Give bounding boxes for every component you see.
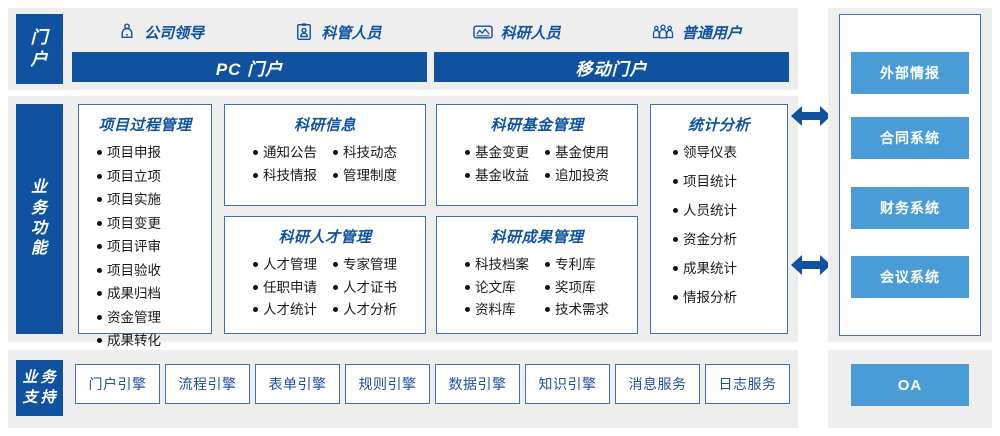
researcher-icon <box>472 22 494 42</box>
support-engine-label: 知识引擎 <box>539 374 597 394</box>
support-engine-form[interactable]: 表单引擎 <box>255 364 340 404</box>
business-support-label: 业 务 支 持 <box>16 360 63 416</box>
module-item[interactable]: 项目立项 <box>97 165 161 185</box>
module-item[interactable]: 论文库 <box>465 276 529 296</box>
module-item-list: 人才管理 专家管理 任职申请 人才证书 人才统计 人才分析 <box>225 253 425 318</box>
module-item[interactable]: 人才证书 <box>333 276 397 296</box>
module-item[interactable]: 成果统计 <box>673 257 737 277</box>
business-support-label-ch4: 持 <box>41 389 57 407</box>
support-engine-label: 表单引擎 <box>269 374 327 394</box>
pc-portal-label: PC 门户 <box>216 55 283 80</box>
research-admin-icon <box>294 22 314 42</box>
module-item[interactable]: 资金分析 <box>673 228 737 248</box>
support-engine-label: 数据引擎 <box>449 374 507 394</box>
module-item[interactable]: 专家管理 <box>333 253 397 273</box>
oa-system-label: OA <box>898 377 923 394</box>
portal-role-company-leader[interactable]: 公司领导 <box>117 22 204 43</box>
portal-role-researcher[interactable]: 科研人员 <box>472 22 561 43</box>
module-title: 科研成果管理 <box>437 226 637 247</box>
support-engine-label: 日志服务 <box>719 374 777 394</box>
portal-role-general-user[interactable]: 普通用户 <box>651 22 742 43</box>
oa-system-button[interactable]: OA <box>851 364 969 406</box>
business-function-label-ch1: 业 <box>31 178 48 198</box>
module-item-list: 基金变更 基金使用 基金收益 追加投资 <box>437 141 637 184</box>
support-engine-rule[interactable]: 规则引擎 <box>345 364 430 404</box>
external-system-meeting[interactable]: 会议系统 <box>851 256 969 298</box>
support-engine-label: 规则引擎 <box>359 374 417 394</box>
portal-role-label: 科管人员 <box>321 22 381 43</box>
support-engine-portal[interactable]: 门户引擎 <box>75 364 160 404</box>
company-leader-icon <box>117 22 137 42</box>
portal-role-label: 公司领导 <box>144 22 204 43</box>
module-fund-management[interactable]: 科研基金管理 基金变更 基金使用 基金收益 追加投资 <box>436 104 638 206</box>
module-title: 科研人才管理 <box>225 226 425 247</box>
module-item-list: 项目申报 项目立项 项目实施 项目变更 项目评审 项目验收 成果归档 资金管理 … <box>79 141 211 349</box>
module-item[interactable]: 基金变更 <box>465 141 529 161</box>
pc-portal-bar[interactable]: PC 门户 <box>72 52 427 82</box>
portal-role-label: 普通用户 <box>682 22 742 43</box>
module-item[interactable]: 基金使用 <box>545 141 609 161</box>
module-item[interactable]: 科技档案 <box>465 253 529 273</box>
support-engine-label: 流程引擎 <box>179 374 237 394</box>
module-title: 项目过程管理 <box>79 114 211 135</box>
external-system-contract[interactable]: 合同系统 <box>851 117 969 159</box>
architecture-diagram: 门 户 公司领导 科管人 <box>0 0 1000 436</box>
connector-arrow-top <box>789 101 833 136</box>
module-item-list: 通知公告 科技动态 科技情报 管理制度 <box>225 141 425 184</box>
module-item[interactable]: 项目评审 <box>97 235 161 255</box>
module-item[interactable]: 追加投资 <box>545 164 609 184</box>
module-item[interactable]: 项目变更 <box>97 212 161 232</box>
external-system-label: 财务系统 <box>880 198 940 218</box>
connector-arrow-bottom <box>789 250 833 285</box>
external-system-label: 外部情报 <box>880 63 940 83</box>
portal-layer-label-ch2: 户 <box>31 49 49 71</box>
portal-role-research-admin[interactable]: 科管人员 <box>294 22 381 43</box>
portal-role-label: 科研人员 <box>501 22 561 43</box>
portal-layer-label-ch1: 门 <box>31 27 49 49</box>
module-achievement-management[interactable]: 科研成果管理 科技档案 专利库 论文库 奖项库 资料库 技术需求 <box>436 216 638 334</box>
support-service-message[interactable]: 消息服务 <box>615 364 700 404</box>
module-item[interactable]: 项目统计 <box>673 170 737 190</box>
general-user-icon <box>651 22 675 42</box>
module-item[interactable]: 资料库 <box>465 298 529 318</box>
module-research-info[interactable]: 科研信息 通知公告 科技动态 科技情报 管理制度 <box>224 104 426 206</box>
module-item[interactable]: 科技情报 <box>253 164 317 184</box>
external-system-intelligence[interactable]: 外部情报 <box>851 52 969 94</box>
external-system-finance[interactable]: 财务系统 <box>851 187 969 229</box>
module-item[interactable]: 人才统计 <box>253 298 317 318</box>
business-function-label-ch3: 功 <box>31 219 48 239</box>
module-item[interactable]: 项目验收 <box>97 259 161 279</box>
business-function-label-ch2: 务 <box>31 199 48 219</box>
module-item[interactable]: 基金收益 <box>465 164 529 184</box>
business-support-label-ch2: 务 <box>41 369 57 387</box>
module-item[interactable]: 领导仪表 <box>673 141 737 161</box>
mobile-portal-bar[interactable]: 移动门户 <box>434 52 789 82</box>
support-engine-label: 门户引擎 <box>89 374 147 394</box>
module-item[interactable]: 通知公告 <box>253 141 317 161</box>
portal-role-list: 公司领导 科管人员 科研人员 <box>72 16 787 48</box>
support-engine-data[interactable]: 数据引擎 <box>435 364 520 404</box>
module-item-list: 科技档案 专利库 论文库 奖项库 资料库 技术需求 <box>437 253 637 318</box>
module-item-list: 领导仪表 项目统计 人员统计 资金分析 成果统计 情报分析 <box>651 141 787 306</box>
module-item[interactable]: 管理制度 <box>333 164 397 184</box>
module-title: 科研信息 <box>225 114 425 135</box>
module-item[interactable]: 项目申报 <box>97 141 161 161</box>
module-item[interactable]: 人员统计 <box>673 199 737 219</box>
module-item[interactable]: 科技动态 <box>333 141 397 161</box>
support-service-log[interactable]: 日志服务 <box>705 364 790 404</box>
module-item[interactable]: 任职申请 <box>253 276 317 296</box>
module-title: 科研基金管理 <box>437 114 637 135</box>
module-item[interactable]: 成果归档 <box>97 282 161 302</box>
module-item[interactable]: 项目实施 <box>97 188 161 208</box>
module-project-process[interactable]: 项目过程管理 项目申报 项目立项 项目实施 项目变更 项目评审 项目验收 成果归… <box>78 104 212 334</box>
support-engine-workflow[interactable]: 流程引擎 <box>165 364 250 404</box>
module-item[interactable]: 人才分析 <box>333 298 397 318</box>
support-engine-knowledge[interactable]: 知识引擎 <box>525 364 610 404</box>
support-engine-label: 消息服务 <box>629 374 687 394</box>
module-title: 统计分析 <box>651 114 787 135</box>
module-item[interactable]: 资金管理 <box>97 306 161 326</box>
business-function-label-ch4: 能 <box>31 239 48 259</box>
module-item[interactable]: 人才管理 <box>253 253 317 273</box>
module-talent-management[interactable]: 科研人才管理 人才管理 专家管理 任职申请 人才证书 人才统计 人才分析 <box>224 216 426 334</box>
module-item[interactable]: 成果转化 <box>97 329 161 349</box>
business-support-label-ch1: 业 <box>22 369 38 387</box>
module-item[interactable]: 情报分析 <box>673 286 737 306</box>
module-item[interactable]: 专利库 <box>545 253 609 273</box>
module-statistics[interactable]: 统计分析 领导仪表 项目统计 人员统计 资金分析 成果统计 情报分析 <box>650 104 788 334</box>
module-item[interactable]: 奖项库 <box>545 276 609 296</box>
business-support-label-ch3: 支 <box>22 389 38 407</box>
module-item[interactable]: 技术需求 <box>545 298 609 318</box>
mobile-portal-label: 移动门户 <box>576 55 648 80</box>
external-system-label: 合同系统 <box>880 128 940 148</box>
business-function-label: 业 务 功 能 <box>16 104 63 334</box>
portal-layer-label: 门 户 <box>16 14 63 84</box>
external-system-label: 会议系统 <box>880 267 940 287</box>
